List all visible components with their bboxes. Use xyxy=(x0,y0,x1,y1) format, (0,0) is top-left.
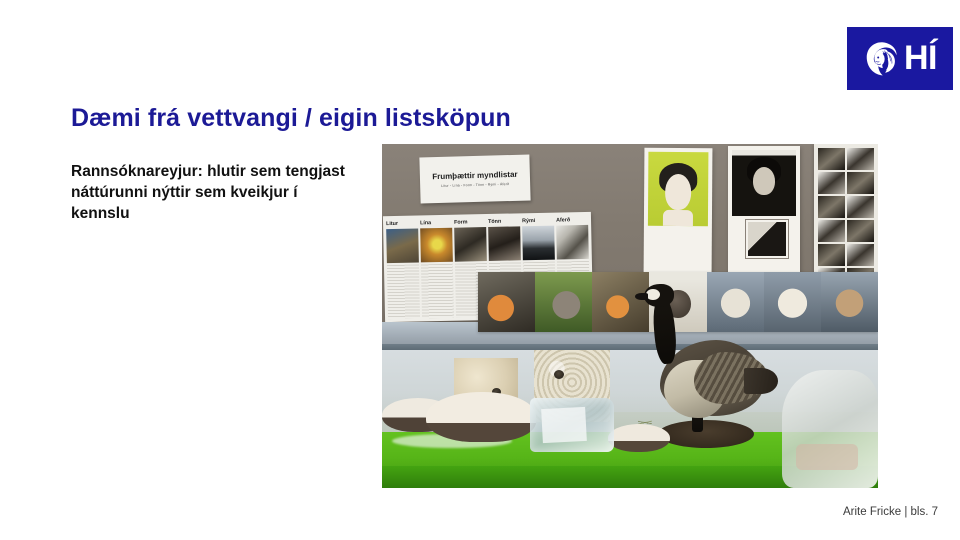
dark-portrait-image xyxy=(732,150,796,216)
poster-column-image xyxy=(488,226,521,261)
slide: HÍ Dæmi frá vettvangi / eigin listsköpun… xyxy=(0,0,960,540)
classroom-nature-display-photo: Frumþættir myndlistar Litur - Lína - For… xyxy=(382,144,878,488)
goose-beak xyxy=(635,293,648,300)
goose-mount-base xyxy=(658,420,754,448)
poster-column-text xyxy=(421,264,454,319)
squirrel-photo xyxy=(535,272,592,332)
sheet-cell xyxy=(847,244,874,266)
poster-column-image xyxy=(454,227,487,262)
sheet-cell xyxy=(818,220,845,242)
page-title: Dæmi frá vettvangi / eigin listsköpun xyxy=(71,103,771,133)
fox-photo xyxy=(478,272,535,332)
poster-column-title: Form xyxy=(454,219,486,226)
poster-column-title: Lína xyxy=(420,220,452,227)
alpaca-photo-2 xyxy=(764,272,821,332)
sheet-cell xyxy=(818,244,845,266)
goose-tail xyxy=(744,368,778,394)
goose-cheek-patch xyxy=(646,289,660,300)
portrait-face xyxy=(665,174,691,210)
sheet-cell xyxy=(847,220,874,242)
plastic-bag-contents xyxy=(796,444,858,470)
poster-column-text xyxy=(387,264,420,319)
sheet-cell xyxy=(847,196,874,218)
poster-column-title: Áferð xyxy=(556,217,588,224)
portrait-neck xyxy=(663,210,693,226)
alpaca-photo-1 xyxy=(707,272,764,332)
green-portrait-image xyxy=(648,152,709,226)
poster-column-title: Rými xyxy=(522,218,554,225)
poster-column-image xyxy=(386,228,419,263)
fox-kits-photo xyxy=(592,272,649,332)
body-text: Rannsóknareyjur: hlutir sem tengjast nát… xyxy=(71,161,349,224)
logo-wordmark: HÍ xyxy=(904,41,937,75)
dark-portrait-print xyxy=(728,146,800,280)
sheet-cell xyxy=(818,172,845,194)
poster-title-sign: Frumþættir myndlistar Litur - Lína - For… xyxy=(419,154,530,203)
sheet-cell xyxy=(818,196,845,218)
stone-object-b xyxy=(426,392,536,442)
sheet-cell xyxy=(847,148,874,170)
university-logo: HÍ xyxy=(847,27,953,90)
poster-column-title: Tónn xyxy=(488,218,520,225)
sign-title-text: Frumþættir myndlistar xyxy=(432,170,518,181)
poster-column: Lína xyxy=(420,220,454,319)
poster-column-title: Litur xyxy=(386,220,418,227)
athena-head-emblem xyxy=(863,40,901,78)
sheet-cell xyxy=(818,148,845,170)
portrait-face xyxy=(753,167,775,195)
poster-column-image xyxy=(556,225,589,260)
poster-column: Litur xyxy=(386,220,420,319)
ice-block-label xyxy=(541,407,587,443)
green-portrait-print xyxy=(644,148,713,278)
small-framed-print xyxy=(746,220,788,258)
stone-object-c xyxy=(608,424,670,452)
poster-column-image xyxy=(522,226,555,261)
sign-subtitle-text: Litur - Lína - Form - Tónn - Rými - Áfer… xyxy=(441,182,509,188)
plastic-bag xyxy=(782,370,878,488)
footer-text: Arite Fricke | bls. 7 xyxy=(843,505,938,519)
alpaca-photo-3 xyxy=(821,272,878,332)
panel-sheets xyxy=(814,144,878,288)
poster-column-image xyxy=(420,228,453,263)
puffball-right-opening xyxy=(554,370,564,379)
animal-photo-strip xyxy=(478,272,878,332)
sheet-cell xyxy=(847,172,874,194)
